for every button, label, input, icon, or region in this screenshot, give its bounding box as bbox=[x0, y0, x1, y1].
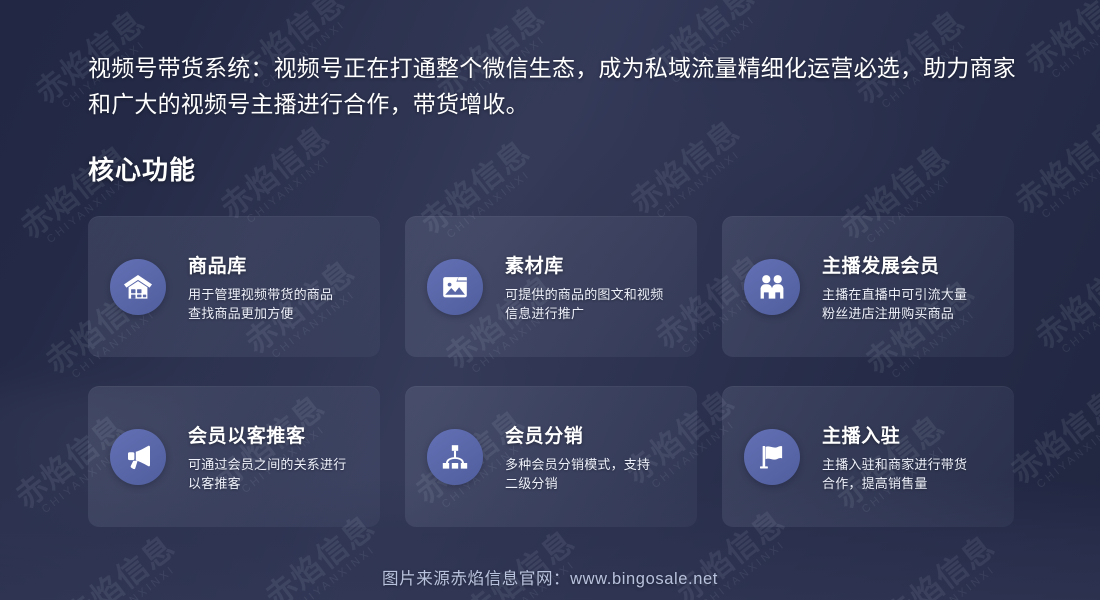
feature-card-description-line: 合作，提高销售量 bbox=[822, 474, 1000, 493]
footer-source-text: 图片来源赤焰信息官网：www.bingosale.net bbox=[0, 565, 1100, 589]
feature-card[interactable]: 主播入驻主播入驻和商家进行带货合作，提高销售量 bbox=[722, 386, 1014, 527]
feature-card-description-line: 多种会员分销模式，支持 bbox=[505, 455, 683, 474]
feature-card-description: 可通过会员之间的关系进行以客推客 bbox=[188, 455, 366, 493]
feature-card-description-line: 可通过会员之间的关系进行 bbox=[188, 455, 366, 474]
warehouse-icon bbox=[110, 259, 166, 315]
feature-card-title: 主播发展会员 bbox=[822, 251, 1000, 278]
feature-card-description-line: 可提供的商品的图文和视频 bbox=[505, 285, 683, 304]
feature-card-text: 主播发展会员主播在直播中可引流大量粉丝进店注册购买商品 bbox=[822, 251, 1000, 323]
feature-card-description: 用于管理视频带货的商品查找商品更加方便 bbox=[188, 285, 366, 323]
feature-card-text: 素材库可提供的商品的图文和视频信息进行推广 bbox=[505, 251, 683, 323]
slide-canvas: 赤焰信息CHIYANXINXI赤焰信息CHIYANXINXI赤焰信息CHIYAN… bbox=[0, 0, 1100, 600]
slide-content: 视频号带货系统：视频号正在打通整个微信生态，成为私域流量精细化运营必选，助力商家… bbox=[0, 0, 1100, 600]
feature-card-description: 可提供的商品的图文和视频信息进行推广 bbox=[505, 285, 683, 323]
feature-card-description: 主播入驻和商家进行带货合作，提高销售量 bbox=[822, 455, 1000, 493]
feature-card-text: 商品库用于管理视频带货的商品查找商品更加方便 bbox=[188, 251, 366, 323]
feature-card-description-line: 主播在直播中可引流大量 bbox=[822, 285, 1000, 304]
image-library-icon bbox=[427, 259, 483, 315]
feature-card-description: 多种会员分销模式，支持二级分销 bbox=[505, 455, 683, 493]
feature-card-description-line: 用于管理视频带货的商品 bbox=[188, 285, 366, 304]
feature-card-grid: 商品库用于管理视频带货的商品查找商品更加方便 素材库可提供的商品的图文和视频信息… bbox=[88, 216, 1013, 527]
feature-card-text: 会员分销多种会员分销模式，支持二级分销 bbox=[505, 421, 683, 493]
feature-card-text: 主播入驻主播入驻和商家进行带货合作，提高销售量 bbox=[822, 421, 1000, 493]
feature-card-description: 主播在直播中可引流大量粉丝进店注册购买商品 bbox=[822, 285, 1000, 323]
flag-icon bbox=[744, 429, 800, 485]
feature-card-description-line: 粉丝进店注册购买商品 bbox=[822, 304, 1000, 323]
feature-card-description-line: 以客推客 bbox=[188, 474, 366, 493]
feature-card[interactable]: 商品库用于管理视频带货的商品查找商品更加方便 bbox=[88, 216, 380, 357]
feature-card-title: 商品库 bbox=[188, 251, 366, 278]
feature-card-description-line: 查找商品更加方便 bbox=[188, 304, 366, 323]
sitemap-icon bbox=[427, 429, 483, 485]
feature-card-title: 主播入驻 bbox=[822, 421, 1000, 448]
feature-card-title: 会员分销 bbox=[505, 421, 683, 448]
handshake-people-icon bbox=[744, 259, 800, 315]
feature-card[interactable]: 会员以客推客可通过会员之间的关系进行以客推客 bbox=[88, 386, 380, 527]
feature-card-text: 会员以客推客可通过会员之间的关系进行以客推客 bbox=[188, 421, 366, 493]
section-title: 核心功能 bbox=[88, 150, 196, 187]
headline-paragraph: 视频号带货系统：视频号正在打通整个微信生态，成为私域流量精细化运营必选，助力商家… bbox=[88, 50, 1018, 122]
feature-card[interactable]: 素材库可提供的商品的图文和视频信息进行推广 bbox=[405, 216, 697, 357]
feature-card-title: 会员以客推客 bbox=[188, 421, 366, 448]
feature-card[interactable]: 会员分销多种会员分销模式，支持二级分销 bbox=[405, 386, 697, 527]
feature-card[interactable]: 主播发展会员主播在直播中可引流大量粉丝进店注册购买商品 bbox=[722, 216, 1014, 357]
megaphone-icon bbox=[110, 429, 166, 485]
feature-card-description-line: 主播入驻和商家进行带货 bbox=[822, 455, 1000, 474]
feature-card-description-line: 信息进行推广 bbox=[505, 304, 683, 323]
feature-card-description-line: 二级分销 bbox=[505, 474, 683, 493]
feature-card-title: 素材库 bbox=[505, 251, 683, 278]
